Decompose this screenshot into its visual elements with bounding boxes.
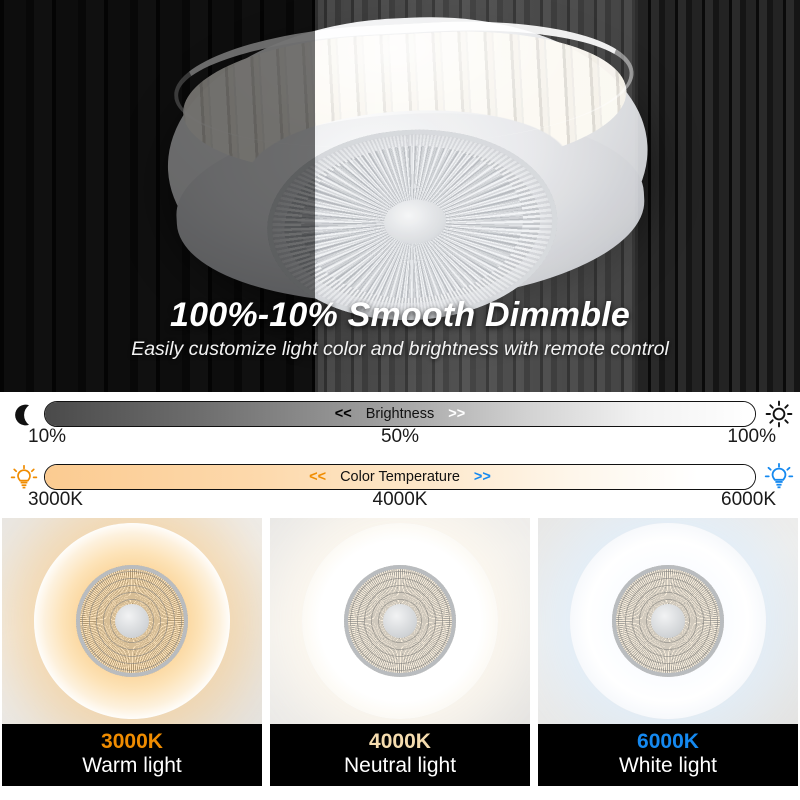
brightness-track-label: << Brightness >> <box>45 402 755 426</box>
sun-icon <box>764 400 794 428</box>
control-sliders: << Brightness >> <box>0 392 800 518</box>
white-light-name: White light <box>619 753 717 778</box>
panel-white-light: 6000K White light <box>538 518 798 786</box>
hero-banner: 100%-10% Smooth Dimmble Easily customize… <box>0 0 800 392</box>
color-temperature-comparison-panels: 3000K Warm light 4000K Neutral light <box>0 518 800 786</box>
brightness-decrease-arrows[interactable]: << <box>335 406 352 422</box>
color-temperature-max-label: 6000K <box>721 489 776 511</box>
color-temperature-slider-row[interactable]: << Color Temperature >> <box>0 455 800 518</box>
brightness-max-label: 100% <box>727 426 776 448</box>
color-temperature-scale: 3000K 4000K 6000K <box>0 489 800 517</box>
color-temperature-label-text: Color Temperature <box>340 469 460 485</box>
warm-light-kelvin: 3000K <box>101 731 163 753</box>
neutral-light-label-bar: 4000K Neutral light <box>270 724 530 786</box>
brightness-slider-track[interactable]: << Brightness >> <box>44 401 756 427</box>
panel-warm-light: 3000K Warm light <box>2 518 262 786</box>
hero-title: 100%-10% Smooth Dimmble <box>0 296 800 335</box>
brightness-scale: 10% 50% 100% <box>0 426 800 454</box>
color-temperature-mid-label: 4000K <box>0 489 800 511</box>
product-infographic: 100%-10% Smooth Dimmble Easily customize… <box>0 0 800 800</box>
cool-bulb-icon <box>764 463 794 491</box>
ceiling-fan-light-product-image <box>161 6 656 321</box>
color-temperature-slider-track[interactable]: << Color Temperature >> <box>44 464 756 490</box>
warm-bulb-icon <box>10 465 38 491</box>
neutral-light-photo <box>270 518 530 724</box>
warm-light-photo <box>2 518 262 724</box>
brightness-mid-label: 50% <box>0 426 800 448</box>
moon-icon <box>10 402 38 428</box>
white-light-label-bar: 6000K White light <box>538 724 798 786</box>
fan-hub-warm <box>115 604 149 638</box>
neutral-light-name: Neutral light <box>344 753 456 778</box>
brightness-increase-arrows[interactable]: >> <box>448 406 465 422</box>
white-light-photo <box>538 518 798 724</box>
fan-hub-white <box>651 604 685 638</box>
color-temperature-track-label: << Color Temperature >> <box>45 465 755 489</box>
panel-neutral-light: 4000K Neutral light <box>270 518 530 786</box>
brightness-slider-row[interactable]: << Brightness >> <box>0 392 800 455</box>
color-temperature-decrease-arrows[interactable]: << <box>309 469 326 485</box>
hero-subtitle: Easily customize light color and brightn… <box>0 338 800 361</box>
fan-hub-neutral <box>383 604 417 638</box>
warm-light-name: Warm light <box>82 753 182 778</box>
brightness-label-text: Brightness <box>366 406 435 422</box>
neutral-light-kelvin: 4000K <box>369 731 431 753</box>
color-temperature-increase-arrows[interactable]: >> <box>474 469 491 485</box>
warm-light-label-bar: 3000K Warm light <box>2 724 262 786</box>
white-light-kelvin: 6000K <box>637 731 699 753</box>
